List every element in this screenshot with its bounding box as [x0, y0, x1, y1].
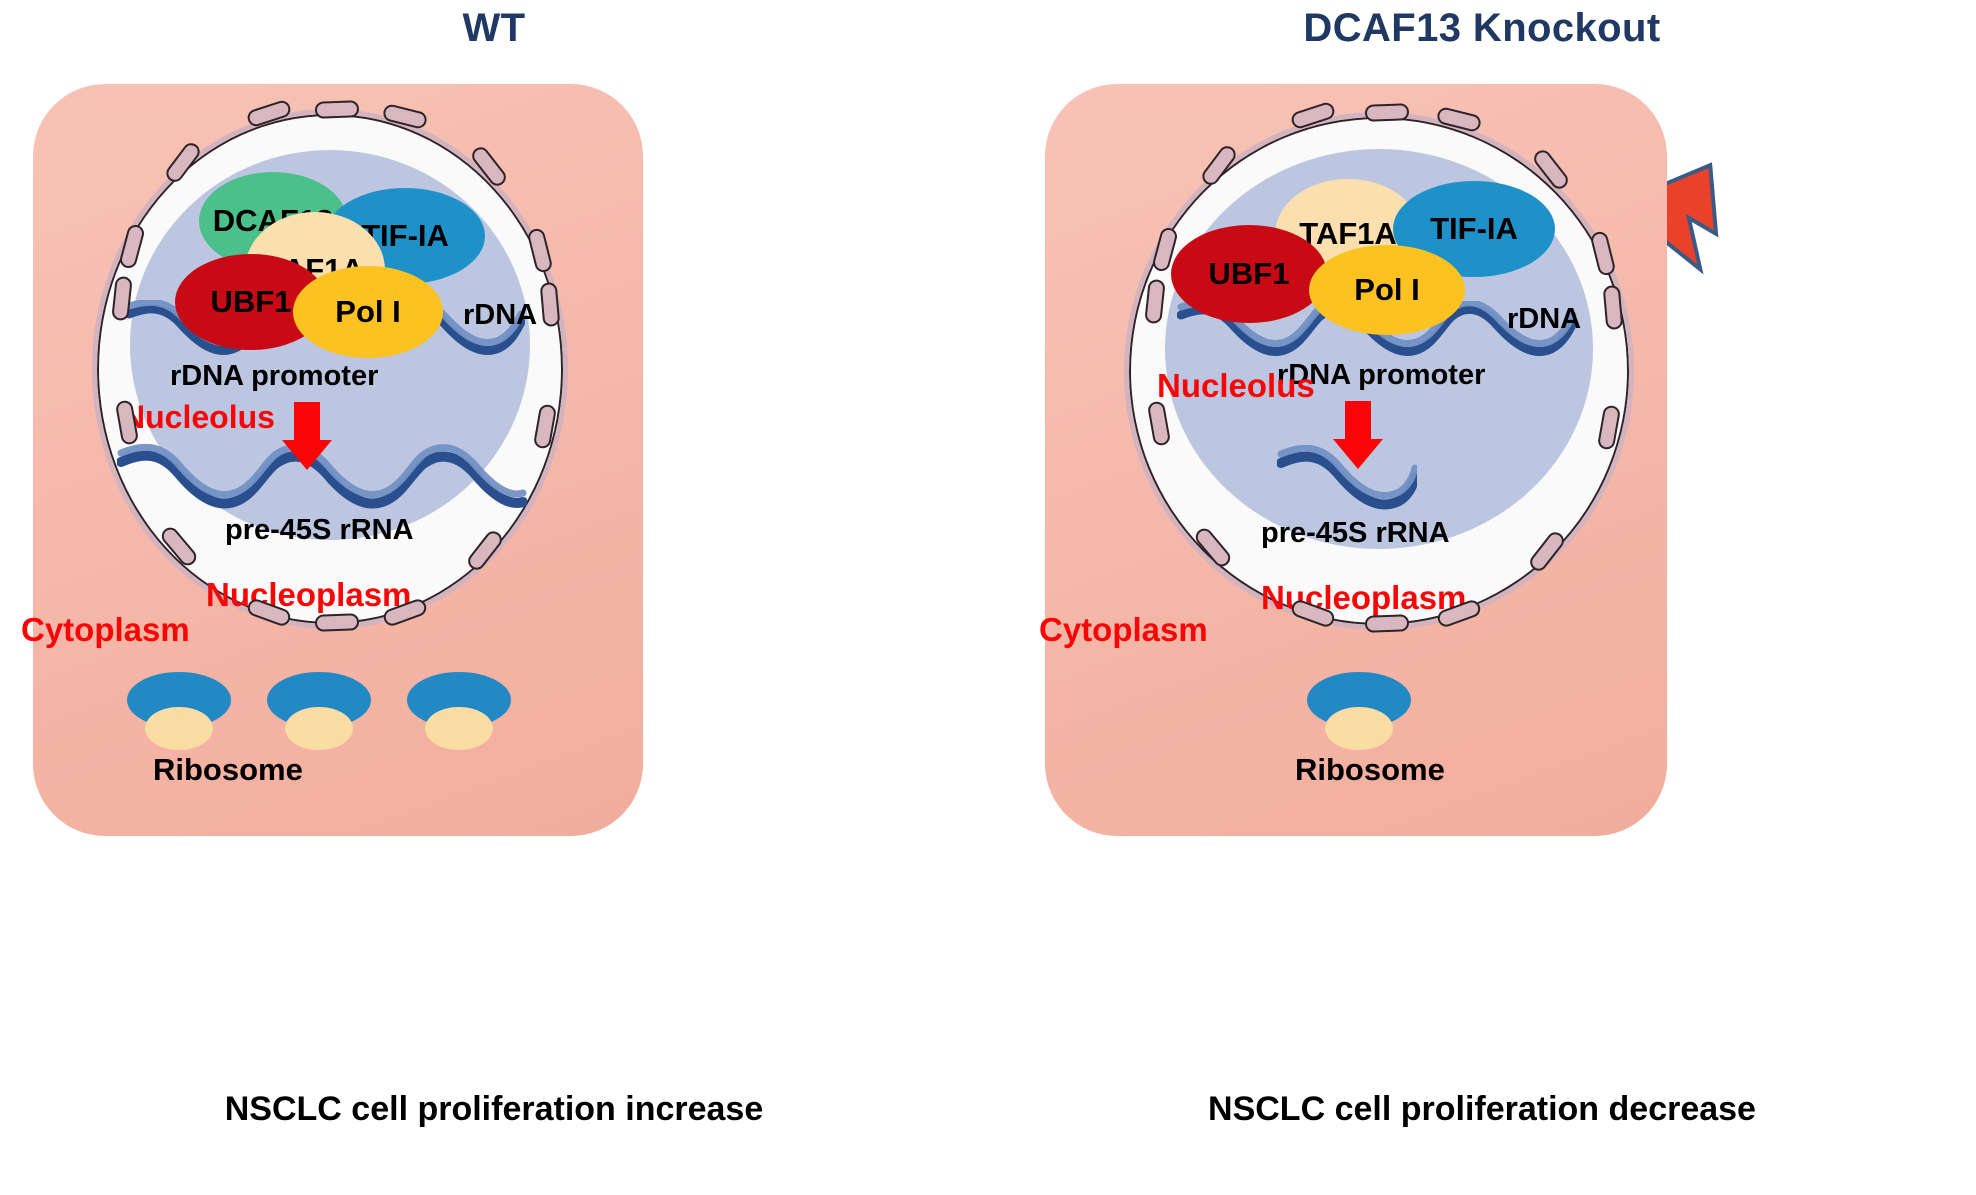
ribosome-small-subunit — [145, 707, 213, 750]
nucleus-wt: DCAF13 TIF-IA TAF1A UBF1 Pol I rDNA rDNA… — [92, 109, 568, 629]
cell-body-knockout: TAF1A TIF-IA UBF1 Pol I rDNA rDNA promot… — [1045, 84, 1667, 836]
panel-wt: WT DCAF13 TIF-IA TAF1A — [0, 0, 988, 1195]
nuclear-pore — [315, 613, 360, 632]
ribosome[interactable] — [267, 672, 371, 750]
nuclear-pore — [533, 403, 557, 449]
ribosome-small-subunit — [1325, 707, 1393, 750]
nuclear-pore — [469, 144, 509, 189]
transcription-arrow-knockout — [1345, 401, 1371, 469]
label-nucleoplasm-wt: Nucleoplasm — [206, 576, 411, 614]
protein-ubf1-knockout[interactable]: UBF1 — [1171, 225, 1327, 323]
label-nucleolus-wt: Nucleolus — [122, 399, 275, 436]
nuclear-pore — [540, 282, 561, 327]
ribosome-small-subunit — [425, 707, 493, 750]
ribosome-small-subunit — [285, 707, 353, 750]
nuclear-pore — [1531, 147, 1571, 192]
label-rdna-wt: rDNA — [463, 299, 537, 332]
transcription-arrow-wt — [294, 402, 320, 470]
label-rdna-promoter-wt: rDNA promoter — [170, 360, 378, 393]
cell-body-wt: DCAF13 TIF-IA TAF1A UBF1 Pol I rDNA rDNA… — [33, 84, 643, 836]
label-ribosome-wt: Ribosome — [153, 752, 303, 788]
panel-title-knockout: DCAF13 Knockout — [988, 6, 1976, 51]
label-rdna-knockout: rDNA — [1507, 303, 1581, 336]
caption-wt: NSCLC cell proliferation increase — [0, 1090, 988, 1129]
protein-label: UBF1 — [211, 284, 292, 320]
protein-label: Pol I — [335, 294, 400, 330]
nuclear-pore — [315, 100, 360, 119]
nuclear-pore — [465, 528, 505, 573]
ribosome[interactable] — [127, 672, 231, 750]
panel-title-wt: WT — [0, 6, 988, 51]
nuclear-pore — [1527, 529, 1567, 574]
nuclear-pore — [163, 140, 203, 185]
ribosome[interactable] — [407, 672, 511, 750]
nuclear-pore — [1289, 101, 1336, 131]
nuclear-pore — [118, 223, 146, 270]
nuclear-pore — [1144, 279, 1166, 325]
nucleus-knockout: TAF1A TIF-IA UBF1 Pol I rDNA rDNA promot… — [1124, 112, 1634, 630]
protein-pol1-wt[interactable]: Pol I — [293, 266, 443, 358]
ribosome[interactable] — [1307, 672, 1411, 750]
nuclear-pore — [1603, 285, 1624, 330]
nuclear-pore — [1597, 404, 1621, 450]
label-pre45s-rrna-knockout: pre-45S rRNA — [1261, 517, 1450, 550]
nuclear-pore — [1147, 400, 1171, 446]
label-cytoplasm-wt: Cytoplasm — [21, 611, 190, 649]
protein-pol1-knockout[interactable]: Pol I — [1309, 245, 1465, 335]
nuclear-pore — [1589, 230, 1616, 277]
label-cytoplasm-knockout: Cytoplasm — [1039, 611, 1208, 649]
protein-label: TIF-IA — [1430, 211, 1518, 247]
nuclear-pore — [158, 524, 199, 569]
nuclear-pore — [382, 103, 429, 130]
nuclear-pore — [526, 227, 553, 274]
caption-knockout: NSCLC cell proliferation decrease — [988, 1090, 1976, 1129]
protein-label: UBF1 — [1209, 256, 1290, 292]
nuclear-pore — [1199, 143, 1239, 188]
panel-dcaf13-knockout: DCAF13 Knockout CX-5461、BMH-21 TAF1A — [988, 0, 1976, 1195]
nuclear-pore — [245, 99, 292, 129]
label-pre45s-rrna-wt: pre-45S rRNA — [225, 514, 414, 547]
label-ribosome-knockout: Ribosome — [1295, 752, 1445, 788]
nuclear-pore — [1365, 614, 1410, 633]
nuclear-pore — [1436, 106, 1483, 133]
label-nucleolus-knockout: Nucleolus — [1157, 367, 1315, 405]
protein-label: Pol I — [1354, 272, 1419, 308]
nuclear-pore — [1192, 525, 1233, 570]
nuclear-pore — [1365, 103, 1410, 122]
